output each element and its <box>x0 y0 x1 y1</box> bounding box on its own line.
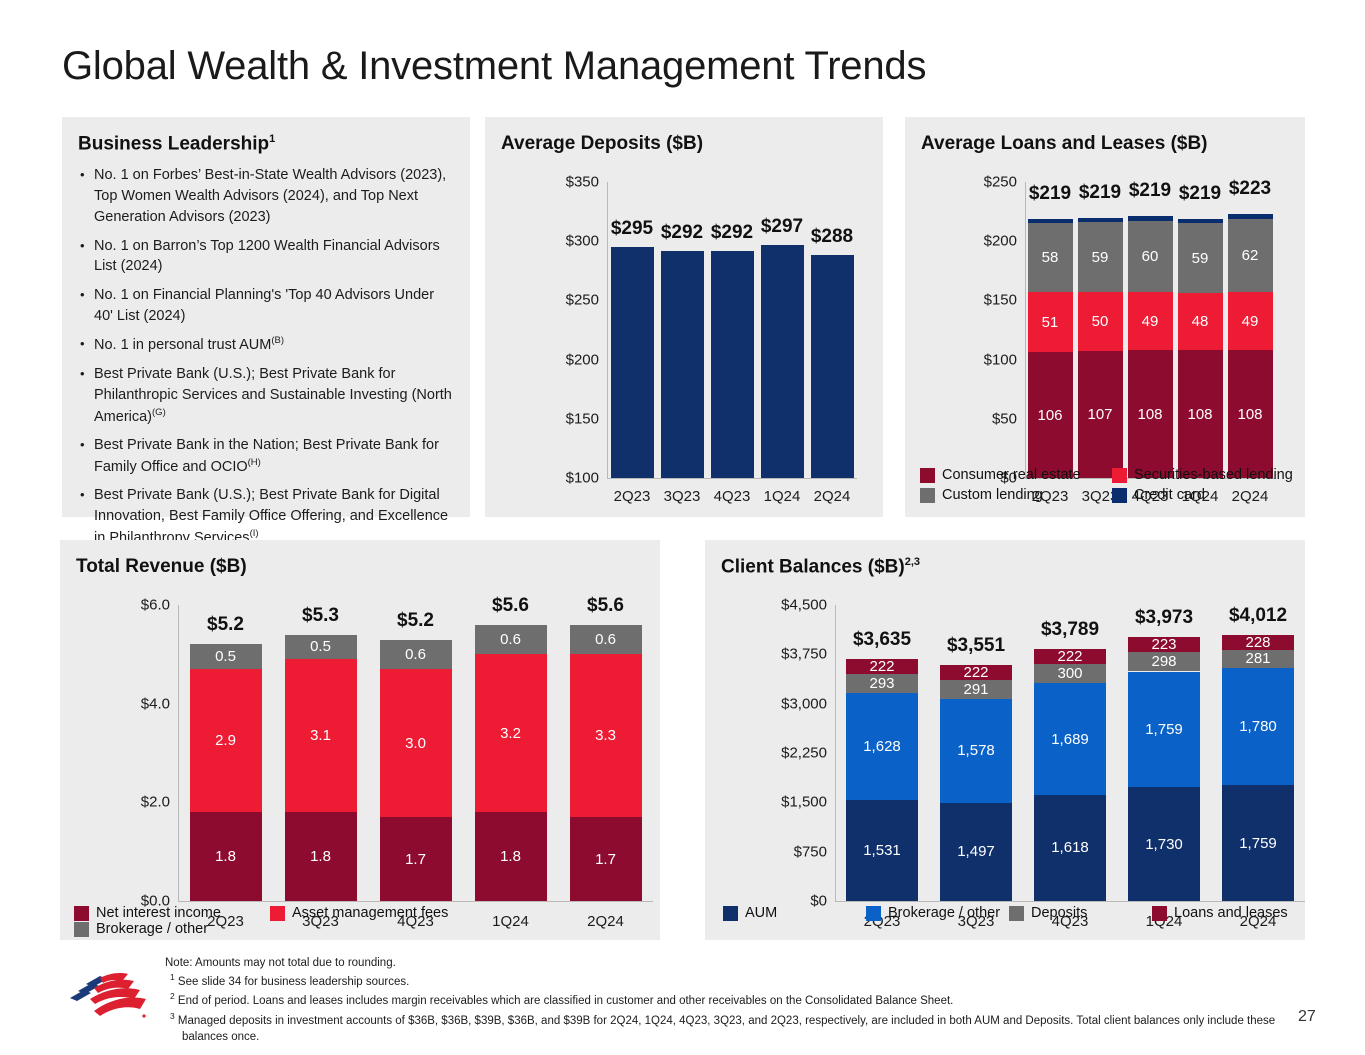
y-axis-line <box>1025 182 1026 478</box>
y-axis-tick-label: $1,500 <box>781 794 827 811</box>
bar-segment[interactable]: 1,618 <box>1034 795 1106 901</box>
bar-segment[interactable]: 222 <box>940 665 1012 680</box>
bar-column[interactable]: 1084960$219 <box>1128 182 1173 478</box>
bar-total-label: $295 <box>611 218 654 240</box>
panel-business-leadership: Business Leadership1 •No. 1 on Forbes’ B… <box>62 117 470 517</box>
legend-label: Securities-based lending <box>1134 467 1293 483</box>
bar-segment[interactable]: 300 <box>1034 664 1106 684</box>
leadership-bullet: •No. 1 on Forbes’ Best-in-State Wealth A… <box>80 165 456 227</box>
panel-total-revenue: Total Revenue ($B) $0.0$2.0$4.0$6.01.82.… <box>60 540 660 940</box>
bar-segment[interactable] <box>1028 219 1073 224</box>
bar-segment[interactable]: 49 <box>1228 292 1273 350</box>
bullet-marker-icon: • <box>80 285 94 326</box>
panel-average-loans-and-leases: Average Loans and Leases ($B) $0$50$100$… <box>905 117 1305 517</box>
panel-average-deposits: Average Deposits ($B) $100$150$200$250$3… <box>485 117 883 517</box>
y-axis-tick-label: $2,250 <box>781 745 827 762</box>
bar-segment[interactable] <box>1178 219 1223 224</box>
bar-segment[interactable] <box>1128 216 1173 221</box>
bar-segment[interactable]: 108 <box>1178 350 1223 478</box>
bar-total-label: $5.6 <box>475 595 547 617</box>
bar-column[interactable]: $295 <box>611 182 654 478</box>
bar-total-label: $219 <box>1028 183 1073 205</box>
x-axis-line <box>178 901 653 902</box>
slide-root: Global Wealth & Investment Management Tr… <box>0 0 1365 1055</box>
leadership-bullet-superscript: (G) <box>152 407 166 418</box>
legend-item[interactable]: Consumer real estate <box>920 467 1112 483</box>
panel-title-client-balances: Client Balances ($B)2,3 <box>721 556 1305 578</box>
bar-segment[interactable]: 0.6 <box>380 640 452 670</box>
bar-column[interactable]: 1,7301,759298223$3,973 <box>1128 605 1200 901</box>
legend-label: AUM <box>745 905 777 921</box>
legend-label: Brokerage / other <box>888 905 1000 921</box>
bar-total-label: $297 <box>761 216 804 238</box>
leadership-bullet-text: Best Private Bank in the Nation; Best Pr… <box>94 435 456 477</box>
legend-item[interactable]: Loans and leases <box>1152 905 1295 921</box>
bar-segment[interactable] <box>761 245 804 478</box>
legend-item[interactable]: Custom lending <box>920 487 1112 503</box>
legend-color-swatch <box>1009 906 1024 921</box>
bar-segment[interactable]: 60 <box>1128 221 1173 292</box>
y-axis-tick-label: $4,500 <box>781 597 827 614</box>
bar-column[interactable]: $297 <box>761 182 804 478</box>
bar-segment[interactable]: 298 <box>1128 652 1200 672</box>
footnote-3-text: Managed deposits in investment accounts … <box>175 1014 1275 1026</box>
bar-segment[interactable]: 291 <box>940 680 1012 699</box>
bar-column[interactable]: $292 <box>711 182 754 478</box>
leadership-bullet-text: No. 1 on Barron’s Top 1200 Wealth Financ… <box>94 236 456 277</box>
bar-segment[interactable]: 0.6 <box>570 625 642 655</box>
y-axis-tick-label: $100 <box>984 351 1017 368</box>
bar-segment[interactable]: 59 <box>1078 222 1123 292</box>
bar-segment[interactable]: 3.3 <box>570 654 642 817</box>
legend-color-swatch <box>74 906 89 921</box>
y-axis-tick-label: $200 <box>566 351 599 368</box>
bar-segment[interactable]: 223 <box>1128 637 1200 652</box>
y-axis-tick-label: $100 <box>566 470 599 487</box>
leadership-bullet-text: No. 1 on Financial Planning's 'Top 40 Ad… <box>94 285 456 326</box>
x-axis-line <box>835 901 1305 902</box>
bullet-marker-icon: • <box>80 334 94 356</box>
y-axis-tick-label: $250 <box>566 292 599 309</box>
bar-total-label: $3,789 <box>1034 619 1106 641</box>
y-axis-line <box>178 605 179 901</box>
legend-item[interactable]: Brokerage / other <box>74 921 270 937</box>
bar-segment[interactable]: 1,780 <box>1222 668 1294 785</box>
bar-segment[interactable]: 49 <box>1128 292 1173 350</box>
bar-column[interactable]: $288 <box>811 182 854 478</box>
bar-total-label: $3,973 <box>1128 607 1200 629</box>
bar-column[interactable]: 1,7591,780281228$4,012 <box>1222 605 1294 901</box>
bar-segment[interactable]: 1,497 <box>940 803 1012 901</box>
bar-segment[interactable]: 51 <box>1028 292 1073 352</box>
y-axis-tick-label: $50 <box>992 410 1017 427</box>
bar-segment[interactable]: 58 <box>1028 223 1073 292</box>
bar-total-label: $5.2 <box>380 610 452 632</box>
bar-segment[interactable] <box>661 251 704 478</box>
y-axis-tick-label: $150 <box>566 410 599 427</box>
bar-segment[interactable]: 1,628 <box>846 693 918 800</box>
bar-segment[interactable]: 222 <box>1034 649 1106 664</box>
bar-segment[interactable]: 1.8 <box>285 812 357 901</box>
bar-segment[interactable]: 62 <box>1228 219 1273 292</box>
legend-label: Net interest income <box>96 905 221 921</box>
bar-segment[interactable]: 293 <box>846 674 918 693</box>
bar-segment[interactable]: 3.1 <box>285 659 357 812</box>
legend-item[interactable]: Brokerage / other <box>866 905 1009 921</box>
legend-color-swatch <box>920 488 935 503</box>
bullet-marker-icon: • <box>80 165 94 227</box>
client-balances-title-superscript: 2,3 <box>905 556 920 568</box>
bar-total-label: $3,635 <box>846 629 918 651</box>
legend-average-loans-and-leases: Consumer real estateSecurities-based len… <box>920 467 1305 507</box>
bar-column[interactable]: $292 <box>661 182 704 478</box>
bar-segment[interactable]: 48 <box>1178 293 1223 350</box>
legend-item[interactable]: Asset management fees <box>270 905 466 921</box>
bank-of-america-logo <box>64 966 164 1028</box>
footnote-2: 2 End of period. Loans and leases includ… <box>165 990 1285 1009</box>
bar-segment[interactable]: 1,689 <box>1034 683 1106 794</box>
bar-segment[interactable]: 281 <box>1222 650 1294 668</box>
leadership-bullet-text: No. 1 in personal trust AUM(B) <box>94 334 456 356</box>
leadership-bullet-text: No. 1 on Forbes’ Best-in-State Wealth Ad… <box>94 165 456 227</box>
leadership-bullet: •Best Private Bank in the Nation; Best P… <box>80 435 456 477</box>
page-title: Global Wealth & Investment Management Tr… <box>62 44 926 89</box>
bar-column[interactable]: 1.73.00.6$5.2 <box>380 605 452 901</box>
bar-total-label: $288 <box>811 226 854 248</box>
bar-segment[interactable]: 2.9 <box>190 669 262 812</box>
bar-total-label: $223 <box>1228 178 1273 200</box>
leadership-bullet-superscript: (I) <box>250 528 259 539</box>
bullet-marker-icon: • <box>80 236 94 277</box>
x-axis-tick-label: 1Q24 <box>757 488 807 505</box>
legend-color-swatch <box>1112 488 1127 503</box>
legend-label: Credit card <box>1134 487 1205 503</box>
leadership-bullet: •No. 1 in personal trust AUM(B) <box>80 334 456 356</box>
bar-segment[interactable]: 59 <box>1178 223 1223 293</box>
business-leadership-bullet-list: •No. 1 on Forbes’ Best-in-State Wealth A… <box>80 165 456 548</box>
bar-column[interactable]: 1084962$223 <box>1228 182 1273 478</box>
footnote-3-continued: balances once. <box>165 1029 1285 1045</box>
legend-item[interactable]: AUM <box>723 905 866 921</box>
bar-segment[interactable]: 3.2 <box>475 654 547 812</box>
legend-label: Custom lending <box>942 487 1043 503</box>
bar-total-label: $219 <box>1078 182 1123 204</box>
bar-segment[interactable]: 0.5 <box>285 635 357 660</box>
leadership-bullet: •No. 1 on Barron’s Top 1200 Wealth Finan… <box>80 236 456 277</box>
bar-segment[interactable]: 108 <box>1128 350 1173 478</box>
y-axis-tick-label: $2.0 <box>141 794 170 811</box>
x-axis-line <box>607 478 857 479</box>
panel-title-business-leadership: Business Leadership1 <box>78 133 470 155</box>
business-leadership-title-text: Business Leadership <box>78 133 269 154</box>
legend-total-revenue: Net interest incomeAsset management fees… <box>74 905 654 937</box>
bar-segment[interactable] <box>1078 218 1123 223</box>
y-axis-tick-label: $4.0 <box>141 695 170 712</box>
legend-color-swatch <box>866 906 881 921</box>
footnotes: Note: Amounts may not total due to round… <box>165 955 1285 1045</box>
bar-column[interactable]: 1065158$219 <box>1028 182 1073 478</box>
bar-total-label: $4,012 <box>1222 605 1294 627</box>
bar-segment[interactable] <box>611 247 654 478</box>
chart-client-balances: $0$750$1,500$2,250$3,000$3,750$4,5001,53… <box>835 605 1305 901</box>
bar-segment[interactable] <box>711 251 754 478</box>
legend-label: Brokerage / other <box>96 921 208 937</box>
panel-client-balances: Client Balances ($B)2,3 $0$750$1,500$2,2… <box>705 540 1305 940</box>
bar-segment[interactable]: 107 <box>1078 351 1123 478</box>
bar-segment[interactable]: 222 <box>846 659 918 674</box>
bar-column[interactable]: 1.83.20.6$5.6 <box>475 605 547 901</box>
y-axis-tick-label: $3,000 <box>781 695 827 712</box>
leadership-bullet-text: Best Private Bank (U.S.); Best Private B… <box>94 364 456 427</box>
bar-column[interactable]: 1.82.90.5$5.2 <box>190 605 262 901</box>
legend-label: Asset management fees <box>292 905 448 921</box>
bar-segment[interactable]: 1,531 <box>846 800 918 901</box>
bar-segment[interactable] <box>1228 214 1273 219</box>
legend-color-swatch <box>74 922 89 937</box>
legend-color-swatch <box>920 468 935 483</box>
bar-segment[interactable] <box>811 255 854 478</box>
bar-column[interactable]: 1084859$219 <box>1178 182 1223 478</box>
bar-segment[interactable]: 1,730 <box>1128 787 1200 901</box>
bar-total-label: $292 <box>661 222 704 244</box>
bar-segment[interactable]: 106 <box>1028 352 1073 478</box>
business-leadership-title-superscript: 1 <box>269 133 275 145</box>
legend-label: Consumer real estate <box>942 467 1081 483</box>
bar-segment[interactable]: 1.8 <box>475 812 547 901</box>
bar-segment[interactable]: 1.7 <box>380 817 452 901</box>
bar-total-label: $3,551 <box>940 635 1012 657</box>
bar-column[interactable]: 1075059$219 <box>1078 182 1123 478</box>
leadership-bullet: •Best Private Bank (U.S.); Best Private … <box>80 364 456 427</box>
bar-segment[interactable]: 228 <box>1222 635 1294 650</box>
y-axis-tick-label: $3,750 <box>781 646 827 663</box>
bar-total-label: $5.3 <box>285 605 357 627</box>
bar-segment[interactable]: 1.8 <box>190 812 262 901</box>
bar-total-label: $219 <box>1128 180 1173 202</box>
panel-title-average-deposits: Average Deposits ($B) <box>501 133 883 155</box>
footnote-1: 1 See slide 34 for business leadership s… <box>165 971 1285 990</box>
bullet-marker-icon: • <box>80 485 94 548</box>
bar-segment[interactable]: 108 <box>1228 350 1273 478</box>
bar-segment[interactable]: 0.5 <box>190 644 262 669</box>
legend-color-swatch <box>1152 906 1167 921</box>
y-axis-tick-label: $250 <box>984 174 1017 191</box>
client-balances-title-text: Client Balances ($B) <box>721 556 905 577</box>
legend-item[interactable]: Credit card <box>1112 487 1304 503</box>
bar-total-label: $5.6 <box>570 595 642 617</box>
panel-title-average-loans-and-leases: Average Loans and Leases ($B) <box>921 133 1305 155</box>
bar-total-label: $5.2 <box>190 614 262 636</box>
y-axis-tick-label: $200 <box>984 233 1017 250</box>
y-axis-tick-label: $750 <box>794 843 827 860</box>
bar-segment[interactable]: 0.6 <box>475 625 547 655</box>
legend-label: Deposits <box>1031 905 1087 921</box>
bar-segment[interactable]: 50 <box>1078 292 1123 351</box>
bar-column[interactable]: 1,5311,628293222$3,635 <box>846 605 918 901</box>
chart-total-revenue: $0.0$2.0$4.0$6.01.82.90.5$5.22Q231.83.10… <box>178 605 653 901</box>
chart-average-deposits: $100$150$200$250$300$350$2952Q23$2923Q23… <box>607 182 857 478</box>
y-axis-line <box>607 182 608 478</box>
y-axis-line <box>835 605 836 901</box>
bar-segment[interactable]: 1,759 <box>1222 785 1294 901</box>
legend-client-balances: AUMBrokerage / otherDepositsLoans and le… <box>723 905 1298 921</box>
panel-title-total-revenue: Total Revenue ($B) <box>76 556 660 578</box>
bar-total-label: $219 <box>1178 183 1223 205</box>
bar-column[interactable]: 1,6181,689300222$3,789 <box>1034 605 1106 901</box>
y-axis-tick-label: $350 <box>566 174 599 191</box>
legend-item[interactable]: Deposits <box>1009 905 1152 921</box>
leadership-bullet-text: Best Private Bank (U.S.); Best Private B… <box>94 485 456 548</box>
footnote-3: 3 Managed deposits in investment account… <box>165 1010 1285 1029</box>
leadership-bullet: •Best Private Bank (U.S.); Best Private … <box>80 485 456 548</box>
y-axis-tick-label: $150 <box>984 292 1017 309</box>
leadership-bullet-superscript: (B) <box>271 335 284 346</box>
y-axis-tick-label: $300 <box>566 233 599 250</box>
legend-color-swatch <box>1112 468 1127 483</box>
footnote-note: Note: Amounts may not total due to round… <box>165 955 1285 971</box>
bar-column[interactable]: 1.83.10.5$5.3 <box>285 605 357 901</box>
bar-column[interactable]: 1.73.30.6$5.6 <box>570 605 642 901</box>
footnote-2-text: End of period. Loans and leases includes… <box>175 995 954 1007</box>
legend-item[interactable]: Net interest income <box>74 905 270 921</box>
chart-average-loans-and-leases: $0$50$100$150$200$2501065158$2192Q231075… <box>1025 182 1275 478</box>
bar-segment[interactable]: 3.0 <box>380 669 452 817</box>
leadership-bullet: •No. 1 on Financial Planning's 'Top 40 A… <box>80 285 456 326</box>
bar-segment[interactable]: 1,759 <box>1128 672 1200 788</box>
legend-label: Loans and leases <box>1174 905 1288 921</box>
legend-item[interactable]: Securities-based lending <box>1112 467 1304 483</box>
x-axis-tick-label: 2Q23 <box>607 488 657 505</box>
bar-total-label: $292 <box>711 222 754 244</box>
bullet-marker-icon: • <box>80 435 94 477</box>
page-number: 27 <box>1298 1008 1316 1026</box>
legend-color-swatch <box>270 906 285 921</box>
bar-segment[interactable]: 1,578 <box>940 699 1012 803</box>
footnote-1-text: See slide 34 for business leadership sou… <box>175 976 410 988</box>
x-axis-tick-label: 3Q23 <box>657 488 707 505</box>
y-axis-tick-label: $6.0 <box>141 597 170 614</box>
bar-column[interactable]: 1,4971,578291222$3,551 <box>940 605 1012 901</box>
x-axis-tick-label: 2Q24 <box>807 488 857 505</box>
leadership-bullet-superscript: (H) <box>248 457 261 468</box>
legend-color-swatch <box>723 906 738 921</box>
bullet-marker-icon: • <box>80 364 94 427</box>
x-axis-tick-label: 4Q23 <box>707 488 757 505</box>
bar-segment[interactable]: 1.7 <box>570 817 642 901</box>
